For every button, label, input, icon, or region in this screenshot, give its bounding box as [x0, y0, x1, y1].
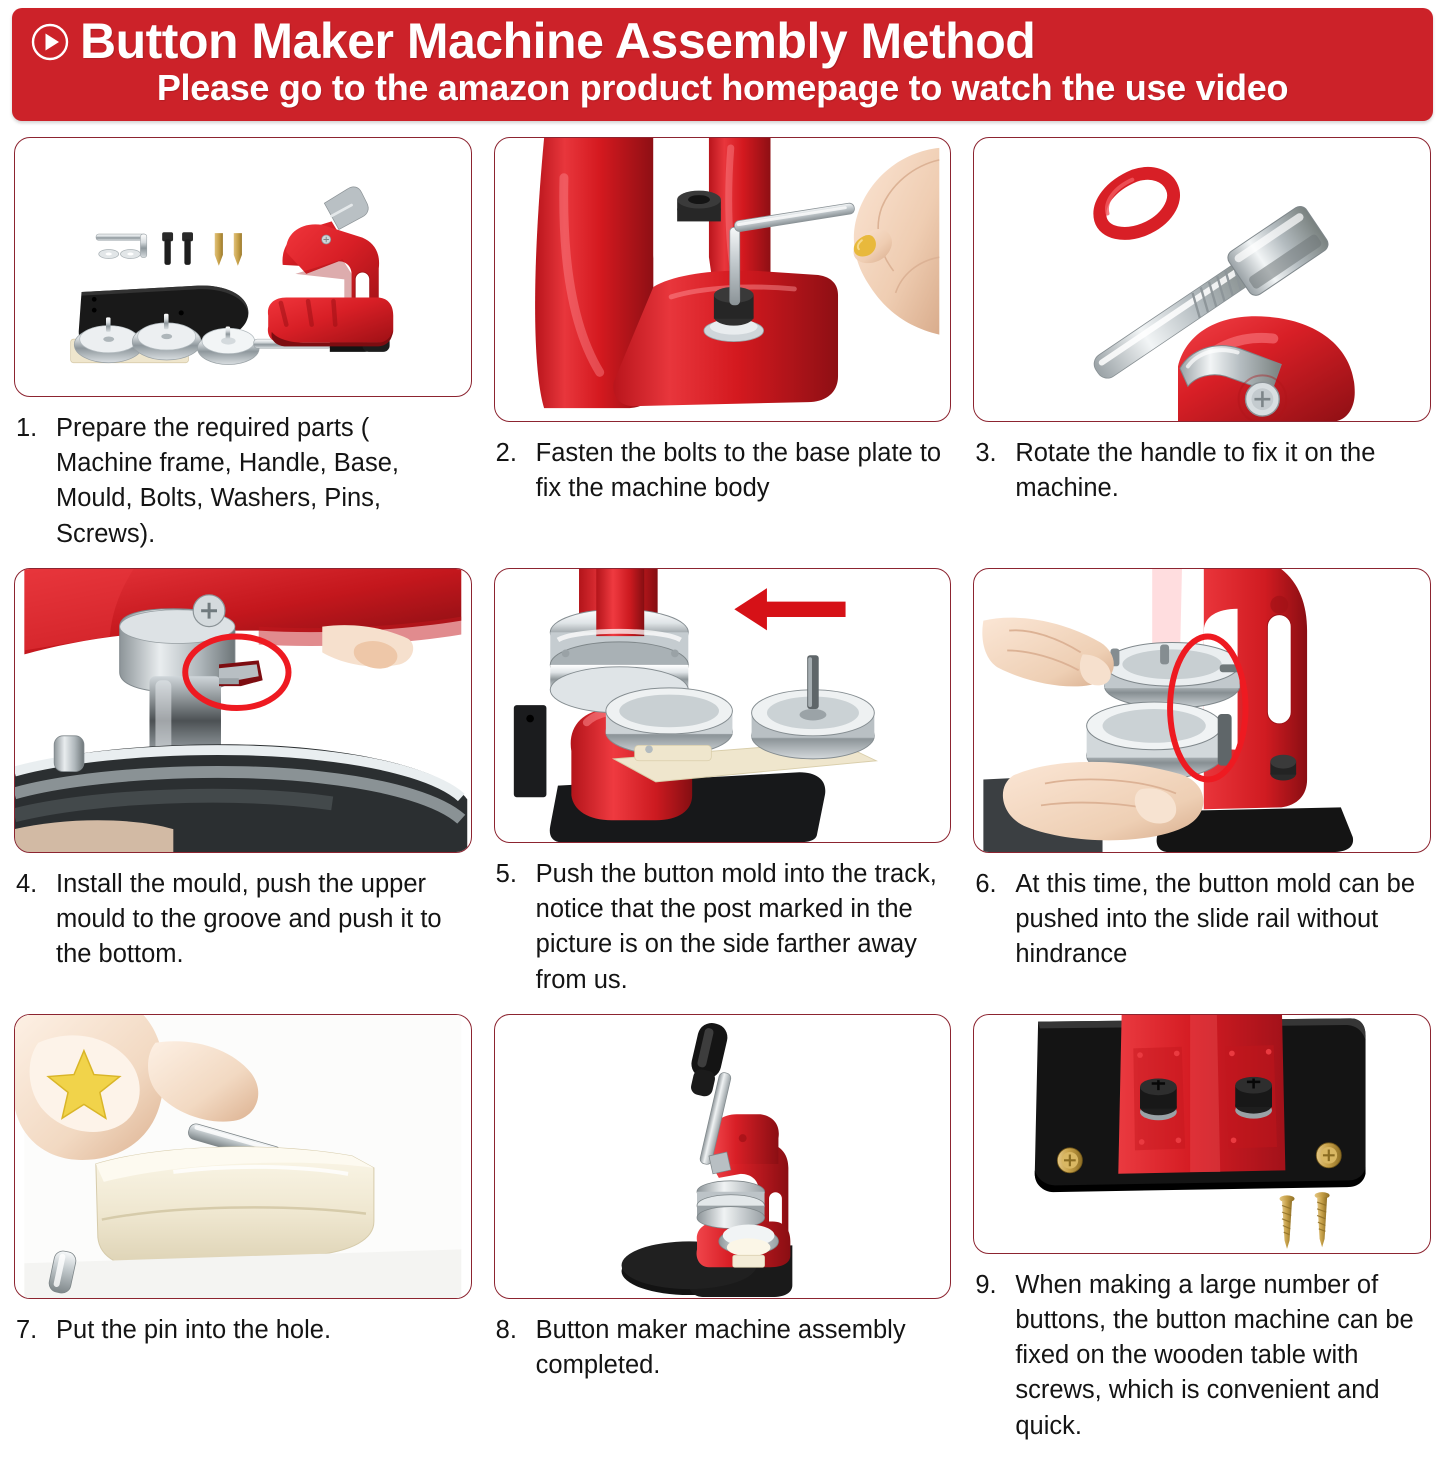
- step-number-9: 9.: [975, 1268, 1015, 1444]
- gold-screw-parts: [215, 233, 242, 266]
- step-card-8: 8. Button maker machine assembly complet…: [494, 1014, 952, 1444]
- socket-nut-upper: [677, 190, 721, 221]
- step-card-9: 9. When making a large number of buttons…: [973, 1014, 1431, 1444]
- step-card-2: 2. Fasten the bolts to the base plate to…: [494, 137, 952, 552]
- step-caption-6: 6. At this time, the button mold can be …: [975, 867, 1429, 973]
- step-caption-5: 5. Push the button mold into the track, …: [496, 857, 950, 998]
- step-card-6: 6. At this time, the button mold can be …: [973, 568, 1431, 998]
- steps-row-2: 4. Install the mould, push the upper mou…: [14, 568, 1431, 998]
- steps-row-3: 7. Put the pin into the hole.: [14, 1014, 1431, 1444]
- install-mould-photo: [14, 568, 472, 853]
- fasten-bolts-photo: [494, 137, 952, 422]
- step-text-1: Prepare the required parts ( Machine fra…: [56, 411, 470, 552]
- loose-wood-screws: [1280, 1192, 1330, 1249]
- play-circle-icon: [30, 22, 70, 62]
- step-text-7: Put the pin into the hole.: [56, 1313, 470, 1348]
- step-caption-4: 4. Install the mould, push the upper mou…: [16, 867, 470, 973]
- step-text-2: Fasten the bolts to the base plate to fi…: [536, 436, 950, 506]
- step-card-3: 3. Rotate the handle to fix it on the ma…: [973, 137, 1431, 552]
- groove-notch: [219, 660, 263, 686]
- insert-pin-photo: [14, 1014, 472, 1299]
- step-card-1: 1. Prepare the required parts ( Machine …: [14, 137, 472, 552]
- mount-with-screws-photo: [973, 1014, 1431, 1254]
- steps-row-1: 1. Prepare the required parts ( Machine …: [14, 137, 1431, 552]
- cream-mould-body: [96, 1147, 374, 1267]
- step-text-4: Install the mould, push the upper mould …: [56, 867, 470, 973]
- step-number-6: 6.: [975, 867, 1015, 973]
- red-arrow-left-annotation: [734, 588, 845, 630]
- step-text-9: When making a large number of buttons, t…: [1015, 1268, 1429, 1444]
- step-number-1: 1.: [16, 411, 56, 552]
- header-banner: Button Maker Machine Assembly Method Ple…: [12, 8, 1433, 121]
- step-card-5: 5. Push the button mold into the track, …: [494, 568, 952, 998]
- assembly-complete-photo: [494, 1014, 952, 1299]
- step-number-7: 7.: [16, 1313, 56, 1348]
- machine-head: [1178, 316, 1355, 421]
- red-collar-loop: [1100, 173, 1174, 233]
- rotate-handle-photo: [973, 137, 1431, 422]
- black-bolt-parts: [162, 232, 193, 265]
- step-number-4: 4.: [16, 867, 56, 973]
- push-mold-track-photo: [494, 568, 952, 843]
- loose-mould: [751, 655, 874, 759]
- step-text-3: Rotate the handle to fix it on the machi…: [1015, 436, 1429, 506]
- step-caption-2: 2. Fasten the bolts to the base plate to…: [496, 436, 950, 506]
- step-card-4: 4. Install the mould, push the upper mou…: [14, 568, 472, 998]
- step-caption-9: 9. When making a large number of buttons…: [975, 1268, 1429, 1444]
- step-number-2: 2.: [496, 436, 536, 506]
- step-caption-7: 7. Put the pin into the hole.: [16, 1313, 470, 1348]
- slide-rail-photo: [973, 568, 1431, 853]
- parts-layout-photo: [14, 137, 472, 397]
- hand-upper: [983, 617, 1114, 686]
- banner-title-row: Button Maker Machine Assembly Method: [30, 16, 1415, 67]
- hand-lower: [1003, 762, 1204, 840]
- step-text-5: Push the button mold into the track, not…: [536, 857, 950, 998]
- step-caption-1: 1. Prepare the required parts ( Machine …: [16, 411, 470, 552]
- hand-graphic: [853, 148, 939, 335]
- step-number-3: 3.: [975, 436, 1015, 506]
- washer-parts: [99, 249, 141, 258]
- banner-title: Button Maker Machine Assembly Method: [80, 16, 1035, 67]
- machine-frame-part: [268, 187, 393, 347]
- step-card-7: 7. Put the pin into the hole.: [14, 1014, 472, 1444]
- step-text-8: Button maker machine assembly completed.: [536, 1313, 950, 1383]
- step-caption-3: 3. Rotate the handle to fix it on the ma…: [975, 436, 1429, 506]
- step-number-8: 8.: [496, 1313, 536, 1383]
- banner-subtitle: Please go to the amazon product homepage…: [30, 69, 1415, 107]
- step-number-5: 5.: [496, 857, 536, 998]
- step-text-6: At this time, the button mold can be pus…: [1015, 867, 1429, 973]
- step-caption-8: 8. Button maker machine assembly complet…: [496, 1313, 950, 1383]
